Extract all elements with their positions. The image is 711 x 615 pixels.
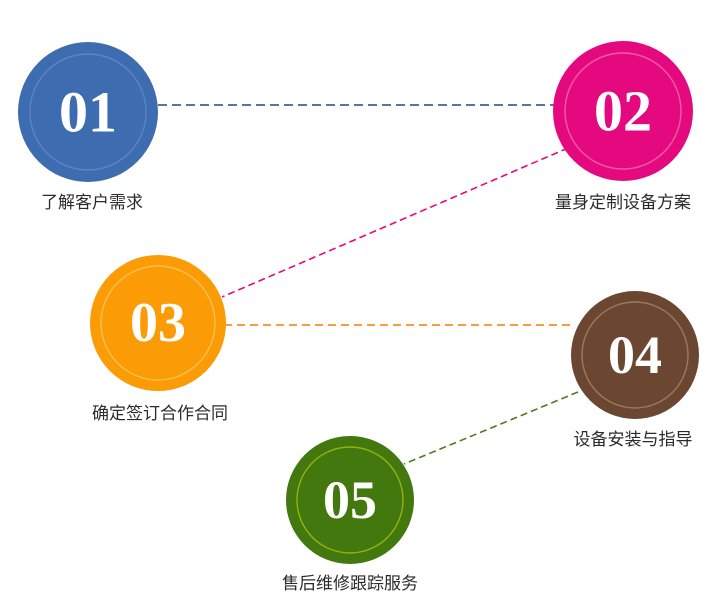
step-label-01: 了解客户需求 [41,193,143,212]
step-number-02: 02 [594,79,652,144]
step-node-02[interactable]: 02 量身定制设备方案 [553,41,693,212]
step-number-01: 01 [59,80,117,145]
step-number-05: 05 [323,470,377,530]
diagram-canvas: 01 了解客户需求 02 量身定制设备方案 03 确定签订合作合同 04 设备安… [0,0,711,615]
step-label-05: 售后维修跟踪服务 [282,574,418,593]
step-node-03[interactable]: 03 确定签订合作合同 [90,255,228,423]
process-flow-diagram: 01 了解客户需求 02 量身定制设备方案 03 确定签订合作合同 04 设备安… [0,0,711,615]
step-number-03: 03 [130,292,186,354]
step-node-01[interactable]: 01 了解客户需求 [18,42,158,212]
connector-02-to-03 [222,148,568,297]
step-number-04: 04 [608,325,662,385]
step-label-03: 确定签订合作合同 [92,404,228,423]
step-node-05[interactable]: 05 售后维修跟踪服务 [282,436,418,593]
step-label-04: 设备安装与指导 [574,430,693,449]
connector-04-to-05 [404,392,578,464]
step-node-04[interactable]: 04 设备安装与指导 [571,291,699,449]
step-label-02: 量身定制设备方案 [555,193,691,212]
